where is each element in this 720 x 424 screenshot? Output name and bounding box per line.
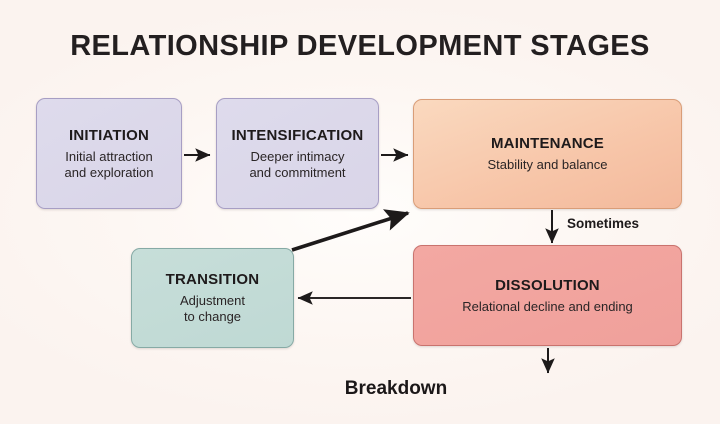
node-initiation-subtitle-line1: Initial attraction xyxy=(65,149,152,164)
node-transition[interactable]: TRANSITION Adjustment to change xyxy=(131,248,294,348)
node-initiation[interactable]: INITIATION Initial attraction and explor… xyxy=(36,98,182,209)
node-transition-subtitle: Adjustment to change xyxy=(174,293,251,325)
node-dissolution[interactable]: DISSOLUTION Relational decline and endin… xyxy=(413,245,682,346)
node-transition-subtitle-line1: Adjustment xyxy=(180,293,245,308)
node-maintenance[interactable]: MAINTENANCE Stability and balance xyxy=(413,99,682,209)
arrow-transition-to-maintenance xyxy=(292,213,408,250)
node-maintenance-subtitle: Stability and balance xyxy=(482,157,614,173)
connector-layer xyxy=(0,0,720,424)
node-dissolution-subtitle: Relational decline and ending xyxy=(456,299,639,315)
node-transition-subtitle-line2: to change xyxy=(184,309,241,324)
node-dissolution-title: DISSOLUTION xyxy=(495,277,600,294)
terminal-label-breakdown: Breakdown xyxy=(0,378,720,400)
node-maintenance-title: MAINTENANCE xyxy=(491,135,604,152)
page-title: RELATIONSHIP DEVELOPMENT STAGES xyxy=(0,30,720,63)
node-transition-title: TRANSITION xyxy=(166,271,260,288)
node-initiation-title: INITIATION xyxy=(69,127,149,144)
node-intensification-subtitle-line1: Deeper intimacy xyxy=(251,149,345,164)
node-intensification-title: INTENSIFICATION xyxy=(232,127,364,144)
node-initiation-subtitle-line2: and exploration xyxy=(65,165,154,180)
node-intensification-subtitle-line2: and commitment xyxy=(249,165,345,180)
node-intensification[interactable]: INTENSIFICATION Deeper intimacy and comm… xyxy=(216,98,379,209)
terminal-label-breakdown-text: Breakdown xyxy=(345,378,447,400)
diagram-canvas: RELATIONSHIP DEVELOPMENT STAGES INITIATI… xyxy=(0,0,720,424)
edge-label-sometimes: Sometimes xyxy=(567,216,639,231)
node-initiation-subtitle: Initial attraction and exploration xyxy=(59,149,160,181)
node-intensification-subtitle: Deeper intimacy and commitment xyxy=(243,149,351,181)
